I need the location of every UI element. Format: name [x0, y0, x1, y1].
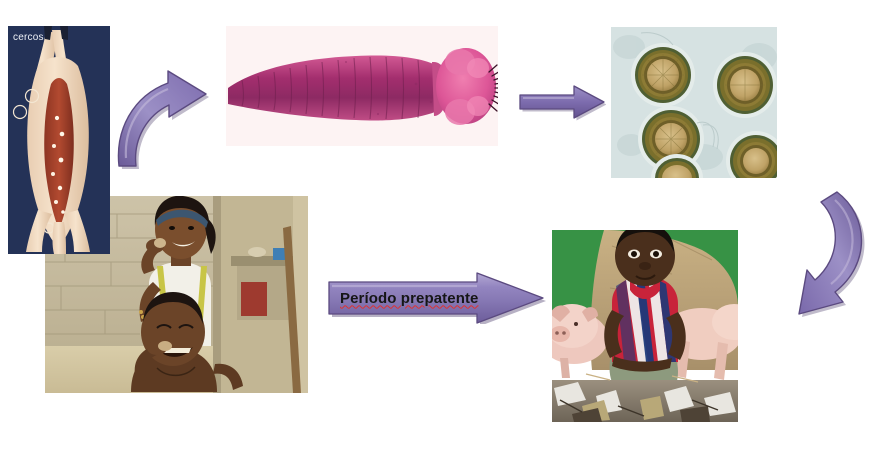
curved-arrow-up-right-icon [106, 62, 216, 172]
labelled-arrow-right-icon [327, 272, 546, 324]
life-cycle-diagram: cercos [0, 0, 876, 458]
straight-arrow-right-icon [518, 83, 606, 121]
arrow-cysticerci-to-scolex [106, 62, 216, 172]
cysticerci-muscle-image: cercos [8, 26, 110, 254]
boy-with-pigs-illustration [552, 230, 738, 422]
taenia-eggs-image [611, 27, 777, 178]
scolex-micrograph [226, 26, 498, 146]
curved-arrow-down-left-icon [785, 188, 876, 323]
tapeworm-scolex-image [226, 26, 498, 146]
boy-with-pigs-photo [552, 230, 738, 422]
arrow-scolex-to-eggs [518, 83, 606, 121]
cysticerci-illustration [8, 26, 110, 254]
eggs-micrograph [611, 27, 777, 178]
arrow-eggs-to-boy-pigs [785, 188, 876, 323]
arrow-prepatent-period: Período prepatente [327, 272, 546, 324]
